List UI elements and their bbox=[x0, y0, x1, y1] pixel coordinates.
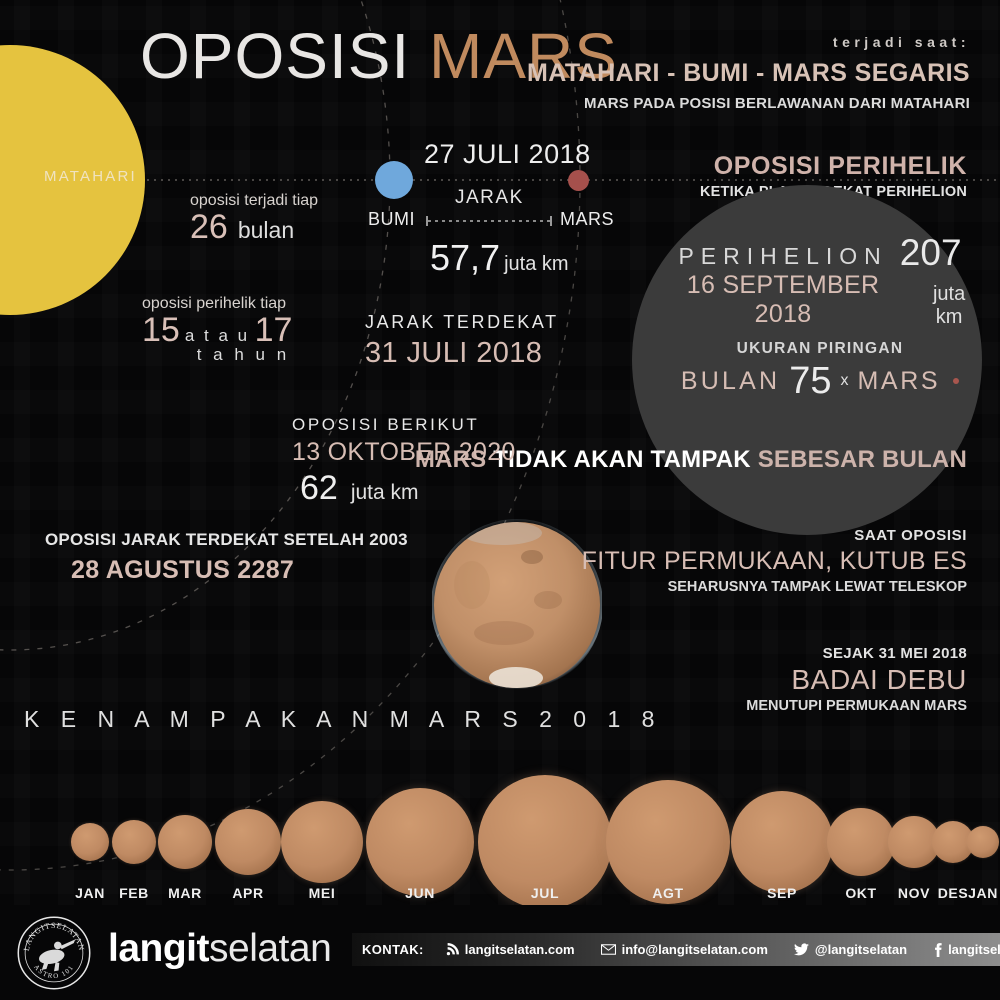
stat-perihelic-or: a t a u bbox=[185, 326, 250, 346]
stat-perihelic-value-2: 17 bbox=[255, 313, 293, 349]
mars-photo bbox=[432, 505, 602, 705]
month-label-jan-12: JAN bbox=[953, 885, 1000, 901]
perihelic-heading: OPOSISI PERIHELIK bbox=[700, 152, 967, 181]
earth-label: BUMI bbox=[368, 209, 415, 230]
stat-next-value: 62 bbox=[300, 469, 338, 508]
brand-part-1: langit bbox=[108, 927, 209, 970]
stat-next-date: 13 OKTOBER 2020 bbox=[292, 438, 516, 467]
distance-unit: juta km bbox=[504, 253, 568, 276]
dust-storm-main: BADAI DEBU bbox=[746, 664, 967, 696]
surface-features-block: SAAT OPOSISI FITUR PERMUKAAN, KUTUB ES S… bbox=[582, 527, 967, 595]
contact-email-text: info@langitselatan.com bbox=[622, 942, 768, 957]
rss-icon bbox=[446, 943, 459, 956]
brand-part-2: selatan bbox=[209, 927, 331, 970]
opposition-date: 27 JULI 2018 bbox=[424, 139, 591, 170]
mars-disc-feb-1 bbox=[112, 820, 156, 864]
facebook-icon bbox=[933, 943, 942, 957]
sun-label: MATAHARI bbox=[44, 168, 137, 185]
earth-disc bbox=[375, 161, 413, 199]
kontak-label: KONTAK: bbox=[352, 942, 433, 957]
stat-closest-date: 31 JULI 2018 bbox=[365, 337, 559, 370]
disc-size-block: UKURAN PIRINGAN BULAN 75 x MARS bbox=[660, 340, 980, 400]
stat-every-opposition: oposisi terjadi tiap 26 bulan bbox=[190, 192, 318, 246]
stat-closest-distance: JARAK TERDEKAT 31 JULI 2018 bbox=[365, 312, 559, 370]
mars-disc-mar-2 bbox=[158, 815, 212, 869]
perihelion-word: PERIHELION bbox=[678, 243, 887, 270]
stat-every-perihelic: oposisi perihelik tiap 15 a t a u 17 t a… bbox=[142, 295, 292, 365]
distance-value-group: 57,7 juta km bbox=[430, 237, 569, 279]
monthly-size-strip: JANFEBMARAPRMEIJUNJULAGTSEPOKTNOVDESJAN bbox=[0, 760, 1000, 890]
dust-storm-kicker: SEJAK 31 MEI 2018 bbox=[746, 645, 967, 662]
month-label-jul-6: JUL bbox=[515, 885, 575, 901]
month-label-apr-3: APR bbox=[218, 885, 278, 901]
dust-storm-block: SEJAK 31 MEI 2018 BADAI DEBU MENUTUPI PE… bbox=[746, 645, 967, 714]
surface-sub: SEHARUSNYA TAMPAK LEWAT TELESKOP bbox=[582, 579, 967, 595]
stat-perihelic-value-1: 15 bbox=[142, 313, 180, 349]
month-label-okt-9: OKT bbox=[831, 885, 891, 901]
mars-dot-icon bbox=[953, 378, 959, 384]
stat-next-opposition: OPOSISI BERIKUT 13 OKTOBER 2020 62 juta … bbox=[292, 415, 516, 508]
mars-disc-mei-4 bbox=[281, 801, 363, 883]
mars-disc-jun-5 bbox=[366, 788, 474, 896]
contact-website[interactable]: langitselatan.com bbox=[433, 942, 588, 957]
stat-closest-heading: JARAK TERDEKAT bbox=[365, 312, 559, 333]
perihelion-info-block: PERIHELION 207 16 SEPTEMBER 2018 juta km bbox=[660, 235, 980, 329]
mars-disc bbox=[568, 170, 589, 191]
surface-main: FITUR PERMUKAAN, KUTUB ES bbox=[582, 547, 967, 576]
mars-disc-apr-3 bbox=[215, 809, 281, 875]
perihelion-date: 16 SEPTEMBER 2018 bbox=[660, 271, 906, 329]
appearance-section-title: K E N A M P A K A N M A R S 2 0 1 8 bbox=[24, 706, 662, 733]
header-block: terjadi saat: MATAHARI - BUMI - MARS SEG… bbox=[527, 34, 970, 112]
header-kicker: terjadi saat: bbox=[527, 34, 970, 50]
contact-email[interactable]: info@langitselatan.com bbox=[588, 942, 781, 957]
contact-twitter-text: @langitselatan bbox=[815, 942, 907, 957]
statement-post: SEBESAR BULAN bbox=[751, 446, 967, 473]
mars-disc-okt-9 bbox=[827, 808, 895, 876]
mars-disc-sep-8 bbox=[731, 791, 833, 893]
stat-next-unit: juta km bbox=[351, 481, 419, 505]
month-label-agt-7: AGT bbox=[638, 885, 698, 901]
mars-label: MARS bbox=[560, 209, 614, 230]
distance-arrow-icon bbox=[425, 214, 553, 228]
header-line-1: MATAHARI - BUMI - MARS SEGARIS bbox=[527, 59, 970, 88]
stat-closest-after-2003: OPOSISI JARAK TERDEKAT SETELAH 2003 28 A… bbox=[45, 530, 408, 585]
surface-kicker: SAAT OPOSISI bbox=[582, 527, 967, 544]
twitter-icon bbox=[794, 943, 809, 956]
contact-website-text: langitselatan.com bbox=[465, 942, 575, 957]
month-label-sep-8: SEP bbox=[752, 885, 812, 901]
mars-disc-jan-0 bbox=[71, 823, 109, 861]
header-line-2: MARS PADA POSISI BERLAWANAN DARI MATAHAR… bbox=[527, 95, 970, 112]
statement-bold: TIDAK AKAN TAMPAK bbox=[493, 446, 751, 473]
month-label-jun-5: JUN bbox=[390, 885, 450, 901]
perihelion-unit: juta km bbox=[918, 283, 980, 329]
month-label-mar-2: MAR bbox=[155, 885, 215, 901]
title-part-1: OPOSISI bbox=[140, 20, 410, 92]
infographic-canvas: MATAHARI OPOSISI MARS terjadi saat: MATA… bbox=[0, 0, 1000, 1000]
stat-after-2003-heading: OPOSISI JARAK TERDEKAT SETELAH 2003 bbox=[45, 530, 408, 550]
moon-word: BULAN bbox=[681, 367, 780, 396]
times-symbol: x bbox=[841, 372, 849, 390]
contact-twitter[interactable]: @langitselatan bbox=[781, 942, 920, 957]
contact-bar: KONTAK: langitselatan.com info@langitsel… bbox=[352, 933, 1000, 966]
dust-storm-sub: MENUTUPI PERMUKAAN MARS bbox=[746, 698, 967, 714]
stat-every-opposition-unit: bulan bbox=[238, 217, 294, 244]
mars-word: MARS bbox=[858, 367, 941, 396]
langitselatan-logo-icon: LANGITSELATAN ASTRO 101 bbox=[16, 915, 92, 991]
disc-size-caption: UKURAN PIRINGAN bbox=[660, 340, 980, 358]
distance-label: JARAK bbox=[455, 187, 524, 209]
mars-disc-jan-12 bbox=[967, 826, 999, 858]
stat-next-heading: OPOSISI BERIKUT bbox=[292, 415, 516, 435]
brand-wordmark: langitselatan bbox=[108, 929, 331, 968]
contact-facebook[interactable]: langitselatan bbox=[920, 942, 1000, 957]
month-label-mei-4: MEI bbox=[292, 885, 352, 901]
distance-value: 57,7 bbox=[430, 237, 500, 279]
contact-facebook-text: langitselatan bbox=[948, 942, 1000, 957]
email-icon bbox=[601, 944, 616, 955]
stat-every-opposition-value: 26 bbox=[190, 210, 228, 246]
stat-after-2003-date: 28 AGUSTUS 2287 bbox=[45, 556, 408, 585]
perihelion-value: 207 bbox=[900, 235, 962, 270]
moon-times-mars-value: 75 bbox=[789, 362, 831, 400]
